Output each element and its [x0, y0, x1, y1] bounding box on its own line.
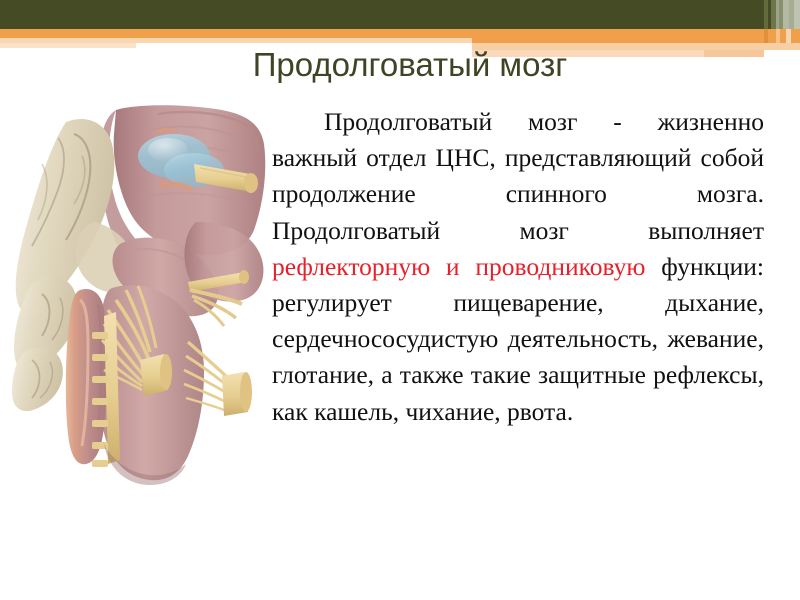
slide: Продолговатый мозг — [0, 0, 800, 600]
header-stripe — [794, 0, 800, 29]
body-highlight: рефлекторную и проводниковую — [272, 252, 646, 281]
slide-body-text: Продолговатый мозг - жизненно важный отд… — [272, 104, 764, 430]
header-orange-band-right — [472, 29, 800, 43]
header-orange-stripe — [764, 29, 768, 43]
body-segment-one: Продолговатый мозг - жизненно важный отд… — [272, 107, 764, 245]
header-orange-stripe — [776, 29, 780, 43]
header-orange-band-left — [0, 29, 472, 38]
medulla-oblongata-illustration — [8, 104, 270, 496]
slide-title: Продолговатый мозг — [60, 46, 760, 84]
brainstem-svg — [8, 104, 270, 496]
header-dark-band — [0, 0, 800, 29]
header-orange-stripe — [786, 29, 791, 43]
